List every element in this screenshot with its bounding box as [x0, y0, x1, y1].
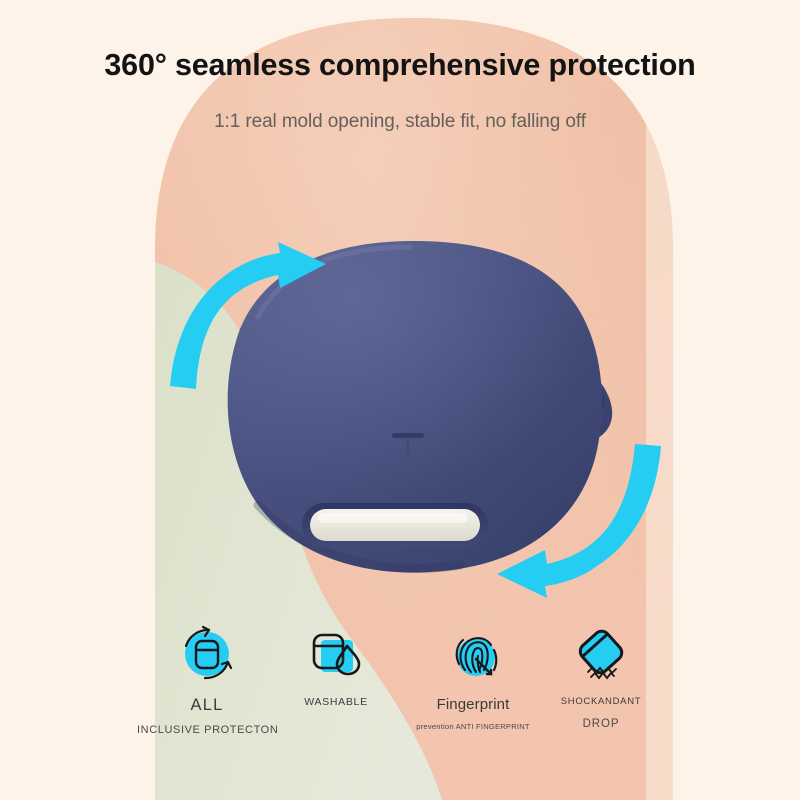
- feature-label: WASHABLE: [266, 696, 406, 708]
- product-feature-banner: 360° seamless comprehensive protection 1…: [0, 0, 800, 800]
- page-subtitle: 1:1 real mold opening, stable fit, no fa…: [0, 111, 800, 133]
- all-round-protection-icon: [137, 624, 277, 686]
- feature-icon-row: ALL INCLUSIVE PROTECTON WASHABLE: [140, 624, 670, 764]
- rotation-arrow-upper-left: [168, 242, 328, 392]
- feature-item-washable: WASHABLE: [266, 624, 406, 717]
- feature-label: Fingerprint: [403, 696, 543, 713]
- washable-water-drop-icon: [266, 624, 406, 686]
- feature-item-shockproof: SHOCKANDANT DROP: [531, 624, 671, 730]
- feature-label: SHOCKANDANT: [531, 696, 671, 707]
- feature-label: ALL: [137, 696, 277, 715]
- feature-item-fingerprint: Fingerprint prevention ANTI FINGERPRINT: [403, 624, 543, 731]
- feature-sublabel: INCLUSIVE PROTECTON: [137, 724, 277, 736]
- feature-sublabel: prevention ANTI FINGERPRINT: [403, 722, 543, 731]
- page-title: 360° seamless comprehensive protection: [0, 48, 800, 83]
- feature-sublabel: DROP: [531, 718, 671, 730]
- fingerprint-icon: [403, 624, 543, 686]
- shockproof-drop-icon: [531, 624, 671, 686]
- front-led-slot: [302, 503, 488, 547]
- rotation-arrow-lower-right: [495, 440, 665, 600]
- feature-item-all-inclusive: ALL INCLUSIVE PROTECTON: [137, 624, 277, 736]
